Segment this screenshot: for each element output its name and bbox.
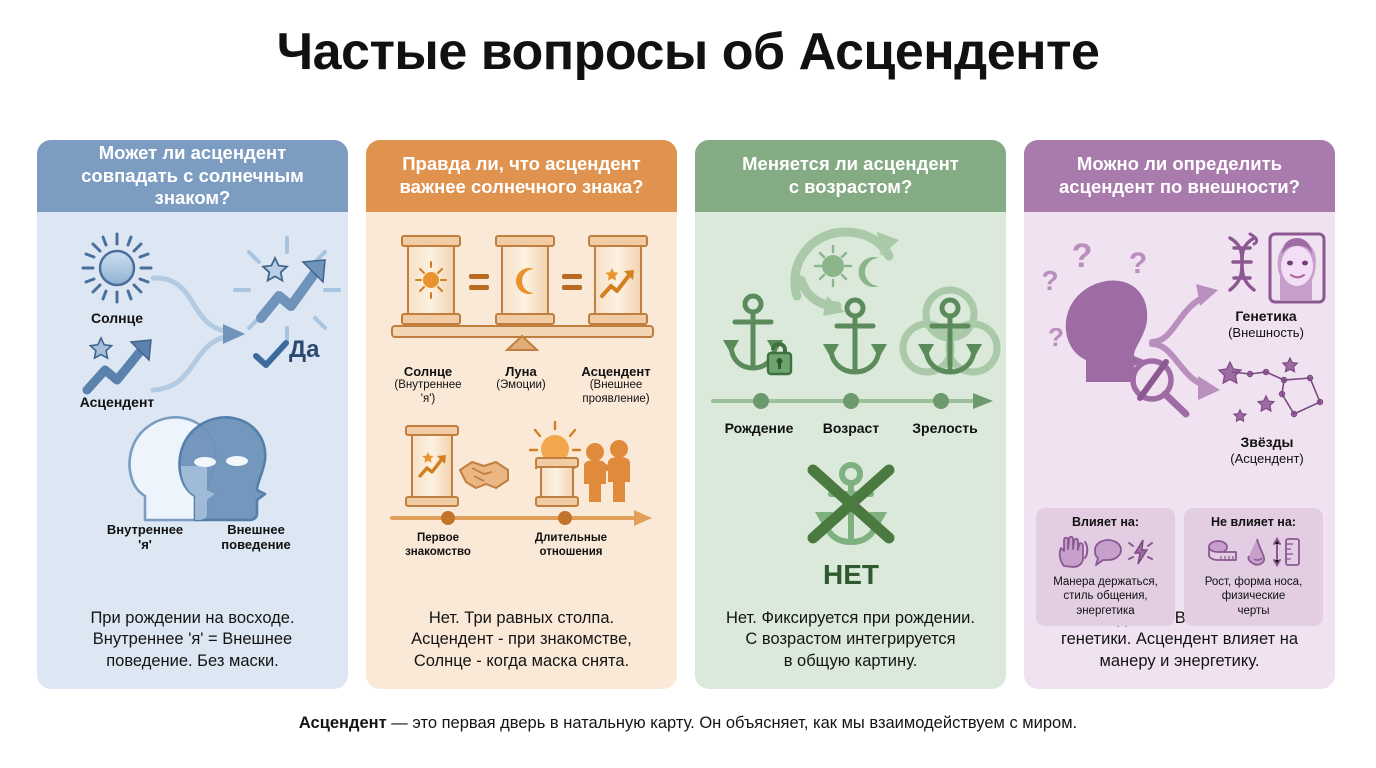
pillar-ascendant — [589, 236, 647, 324]
label-pillar-sun: Солнце (Внутреннее 'я') — [378, 364, 478, 406]
two-heads-icon — [121, 404, 271, 524]
pillar-moon — [496, 236, 554, 324]
nose-icon — [1243, 537, 1269, 567]
pillar1-line1: Солнце — [378, 364, 478, 379]
card-caption-sun-sign-match: При рождении на восходе. Внутреннее 'я' … — [37, 608, 348, 689]
outer-behavior-line-2: поведение — [201, 537, 311, 552]
header-line-2: с возрастом? — [742, 176, 959, 199]
pillar3-line2: (Внешнее — [562, 379, 670, 393]
footer-rest-text: — это первая дверь в натальную карту. Он… — [387, 714, 1077, 732]
dna-icon — [1230, 234, 1257, 290]
genetics-line1: Генетика — [1202, 308, 1330, 325]
label-genetics: Генетика (Внешность) — [1202, 308, 1330, 340]
label-long-relationship: Длительные отношения — [506, 532, 636, 559]
header-line-1: Может ли асцендент — [47, 142, 338, 165]
couple-icon — [584, 440, 630, 502]
caption-line-2: генетики. Асцендент влияет на — [1038, 629, 1321, 651]
card-caption-ascendant-more-important: Нет. Три равных столпа. Асцендент - при … — [366, 608, 677, 689]
pillar-sun — [402, 236, 460, 324]
pillar1-line2: (Внутреннее — [378, 379, 478, 393]
influences-line2: стиль общения, — [1040, 589, 1171, 603]
long-relationship-group — [530, 422, 630, 506]
pillar3-line3: проявление) — [562, 393, 670, 407]
header-line-1: Правда ли, что асцендент — [400, 153, 644, 176]
card-header-changes-with-age: Меняется ли асцендент с возрастом? — [695, 140, 1006, 212]
pillar3-line1: Асцендент — [562, 364, 670, 379]
subbox-influences-title: Влияет на: — [1040, 515, 1171, 529]
measuring-tape-icon — [1206, 538, 1240, 566]
ruler-height-icon — [1272, 536, 1302, 568]
caption-line-3: в общую картину. — [709, 651, 992, 673]
page-title: Частые вопросы об Асценденте — [0, 24, 1376, 81]
card-art-determine-by-appearance: ? ? ? ? — [1024, 212, 1335, 608]
caption-line-3: Солнце - когда маска снята. — [380, 651, 663, 673]
three-pillars-balance-icon — [390, 226, 655, 352]
caption-line-1: При рождении на восходе. — [51, 608, 334, 630]
caption-line-2: С возрастом интегрируется — [709, 629, 992, 651]
header-line-1: Можно ли определить — [1059, 153, 1300, 176]
label-stars: Звёзды (Асцендент) — [1204, 434, 1330, 466]
footer-bold-term: Асцендент — [299, 714, 387, 732]
not-influences-line3: черты — [1188, 604, 1319, 618]
header-line-1: Меняется ли асцендент — [742, 153, 959, 176]
lock-icon — [768, 344, 791, 374]
card-body-determine-by-appearance: ? ? ? ? — [1024, 212, 1335, 689]
anchor-integrated-icon — [901, 288, 999, 384]
age-timeline-icon — [709, 390, 997, 412]
influence-subbox-row: Влияет на: — [1036, 508, 1323, 626]
influences-line3: энергетика — [1040, 604, 1171, 618]
not-influences-line2: физические — [1188, 589, 1319, 603]
speech-bubble-icon — [1093, 538, 1123, 566]
lightning-icon — [1126, 537, 1156, 567]
first-meeting-group — [406, 426, 508, 506]
subbox-influences: Влияет на: — [1036, 508, 1175, 626]
timeline2-line1: Длительные — [506, 532, 636, 546]
face-icon — [1270, 234, 1324, 302]
hand-wave-icon — [1056, 536, 1090, 568]
subbox-influences-icons — [1040, 532, 1171, 572]
stars-line2: (Асцендент) — [1204, 451, 1330, 466]
genetics-dna-face-icon — [1220, 232, 1328, 306]
label-birth: Рождение — [703, 420, 815, 437]
infographic-page: Частые вопросы об Асценденте Может ли ас… — [0, 0, 1376, 768]
header-line-2: совпадать с солнечным знаком? — [47, 165, 338, 210]
label-pillar-ascendant: Асцендент (Внешнее проявление) — [562, 364, 670, 406]
inner-self-line-2: 'я' — [93, 537, 197, 552]
handshake-icon — [460, 462, 508, 488]
label-no: НЕТ — [801, 558, 901, 591]
sun-icon — [79, 230, 155, 306]
label-first-meeting: Первое знакомство — [380, 532, 496, 559]
timeline2-line2: отношения — [506, 546, 636, 560]
card-header-determine-by-appearance: Можно ли определить асцендент по внешнос… — [1024, 140, 1335, 212]
anchor-icon — [817, 296, 893, 380]
caption-line-2: Асцендент - при знакомстве, — [380, 629, 663, 651]
faq-card-determine-by-appearance[interactable]: Можно ли определить асцендент по внешнос… — [1024, 140, 1335, 689]
outer-behavior-line-1: Внешнее — [201, 522, 311, 537]
anchor-locked-icon — [719, 292, 805, 380]
timeline1-line1: Первое — [380, 532, 496, 546]
card-caption-changes-with-age: Нет. Фиксируется при рождении. С возраст… — [695, 608, 1006, 689]
equals-sign-1 — [469, 274, 489, 290]
card-art-sun-sign-match: Солнце Асцендент — [37, 212, 348, 608]
card-header-sun-sign-match: Может ли асцендент совпадать с солнечным… — [37, 140, 348, 212]
faq-card-row: Может ли асцендент совпадать с солнечным… — [37, 140, 1339, 689]
header-line-2: асцендент по внешности? — [1059, 176, 1300, 199]
stars-line1: Звёзды — [1204, 434, 1330, 451]
not-influences-line1: Рост, форма носа, — [1188, 575, 1319, 589]
equals-sign-2 — [562, 274, 582, 290]
card-body-sun-sign-match: Солнце Асцендент — [37, 212, 348, 689]
caption-line-3: манеру и энергетику. — [1038, 651, 1321, 673]
faq-card-sun-sign-match[interactable]: Может ли асцендент совпадать с солнечным… — [37, 140, 348, 689]
caption-line-2: Внутреннее 'я' = Внешнее — [51, 629, 334, 651]
genetics-line2: (Внешность) — [1202, 325, 1330, 340]
inner-self-line-1: Внутреннее — [93, 522, 197, 537]
anchor-crossed-out-icon — [801, 460, 901, 556]
footer-note: Асцендент — это первая дверь в натальную… — [0, 714, 1376, 733]
card-header-ascendant-more-important: Правда ли, что асцендент важнее солнечно… — [366, 140, 677, 212]
subbox-not-influences-icons — [1188, 532, 1319, 572]
card-body-changes-with-age: Рождение Возраст Зрелость — [695, 212, 1006, 689]
subbox-influences-text: Манера держаться, стиль общения, энергет… — [1040, 575, 1171, 618]
caption-line-1: Нет. Три равных столпа. — [380, 608, 663, 630]
subbox-not-influences-title: Не влияет на: — [1188, 515, 1319, 529]
question-mark-icon-2: ? — [1070, 236, 1094, 276]
faq-card-changes-with-age[interactable]: Меняется ли асцендент с возрастом? — [695, 140, 1006, 689]
pillar2-line1: Луна — [476, 364, 566, 379]
label-inner-self: Внутреннее 'я' — [93, 522, 197, 553]
check-icon — [253, 340, 289, 370]
card-body-ascendant-more-important: Солнце (Внутреннее 'я') Луна (Эмоции) Ас… — [366, 212, 677, 689]
subbox-not-influences: Не влияет на: — [1184, 508, 1323, 626]
ascendant-result-icon — [233, 236, 341, 344]
question-mark-icon-1: ? — [1038, 264, 1062, 297]
label-outer-behavior: Внешнее поведение — [201, 522, 311, 553]
pillar2-line2: (Эмоции) — [476, 379, 566, 393]
header-line-2: важнее солнечного знака? — [400, 176, 644, 199]
constellation-stars-icon — [1216, 356, 1328, 430]
label-pillar-moon: Луна (Эмоции) — [476, 364, 566, 393]
influences-line1: Манера держаться, — [1040, 575, 1171, 589]
caption-line-3: поведение. Без маски. — [51, 651, 334, 673]
pillar1-line3: 'я') — [378, 393, 478, 407]
label-age: Возраст — [801, 420, 901, 437]
card-art-ascendant-more-important: Солнце (Внутреннее 'я') Луна (Эмоции) Ас… — [366, 212, 677, 608]
card-art-changes-with-age: Рождение Возраст Зрелость — [695, 212, 1006, 608]
timeline1-line2: знакомство — [380, 546, 496, 560]
faq-card-ascendant-more-important[interactable]: Правда ли, что асцендент важнее солнечно… — [366, 140, 677, 689]
caption-line-1: Нет. Фиксируется при рождении. — [709, 608, 992, 630]
subbox-not-influences-text: Рост, форма носа, физические черты — [1188, 575, 1319, 618]
label-maturity: Зрелость — [891, 420, 999, 437]
label-yes: Да — [289, 336, 339, 364]
